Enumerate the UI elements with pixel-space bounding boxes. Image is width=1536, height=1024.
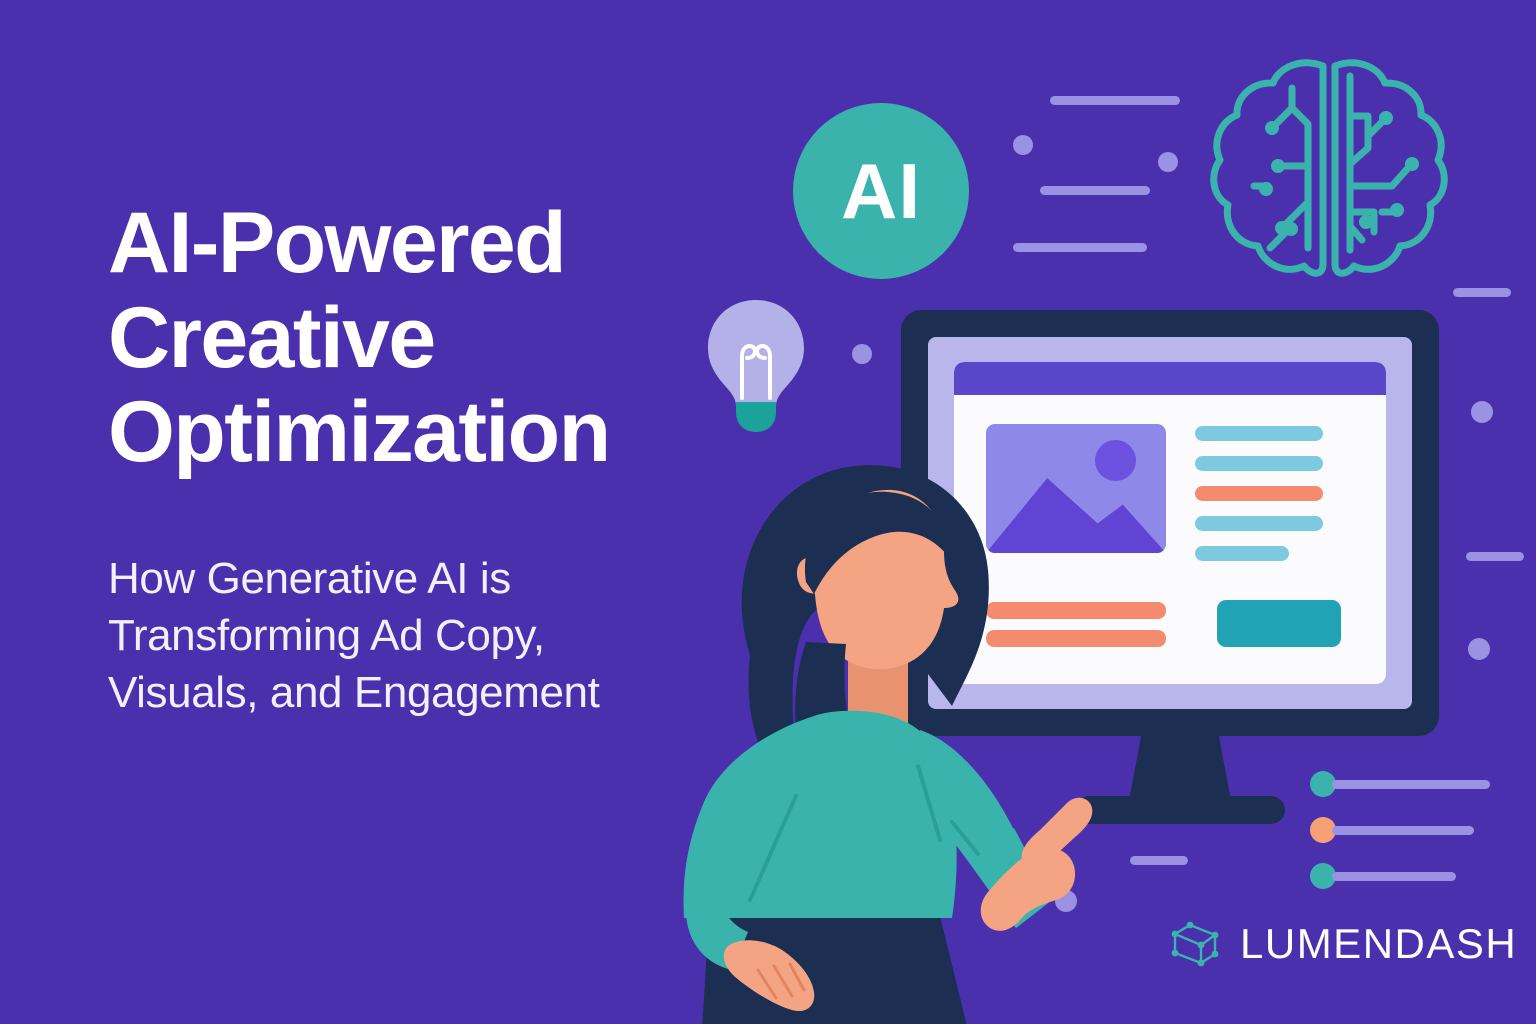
decor-dot-1 (1013, 135, 1033, 155)
decor-dot-3 (852, 344, 872, 364)
ai-badge: AI (793, 103, 969, 279)
screen-header-bar (954, 362, 1386, 395)
cube-wireframe-icon (1170, 918, 1222, 970)
decor-dash-3 (1013, 243, 1147, 252)
subtitle-line-3: Visuals, and Engagement (108, 664, 768, 721)
poster-canvas: AI (0, 0, 1536, 1024)
decor-dash-2 (1040, 186, 1150, 195)
decor-dot-4 (1471, 401, 1493, 423)
headline-line-1: AI-Powered (108, 196, 768, 291)
woman-pointing-illustration (600, 430, 1160, 1024)
node-line-2 (1332, 826, 1474, 835)
content-bar-4 (1195, 516, 1323, 531)
node-line-3 (1332, 872, 1456, 881)
brand-logo: LUMENDASH (1170, 918, 1517, 970)
decor-dash-1 (1050, 96, 1180, 105)
decor-dot-5 (1468, 638, 1490, 660)
page-subtitle: How Generative AI is Transforming Ad Cop… (108, 550, 768, 722)
page-title: AI-Powered Creative Optimization (108, 196, 768, 480)
node-row-3 (1310, 863, 1456, 889)
decor-dash-4 (1453, 288, 1511, 297)
node-row-2 (1310, 817, 1474, 843)
decor-dot-2 (1158, 152, 1178, 172)
headline-line-3: Optimization (108, 385, 768, 480)
subtitle-line-2: Transforming Ad Copy, (108, 607, 768, 664)
node-line-1 (1332, 780, 1490, 789)
content-bar-2 (1195, 456, 1323, 471)
decor-dash-5 (1466, 552, 1524, 561)
node-row-1 (1310, 771, 1490, 797)
content-bar-3 (1195, 486, 1323, 501)
headline-line-2: Creative (108, 291, 768, 386)
cta-button[interactable] (1217, 600, 1341, 647)
content-bar-5 (1195, 546, 1289, 561)
ai-badge-label: AI (841, 152, 921, 230)
content-bar-1 (1195, 426, 1323, 441)
brain-circuit-icon (1196, 52, 1462, 284)
subtitle-line-1: How Generative AI is (108, 550, 768, 607)
brand-name: LUMENDASH (1240, 923, 1517, 965)
